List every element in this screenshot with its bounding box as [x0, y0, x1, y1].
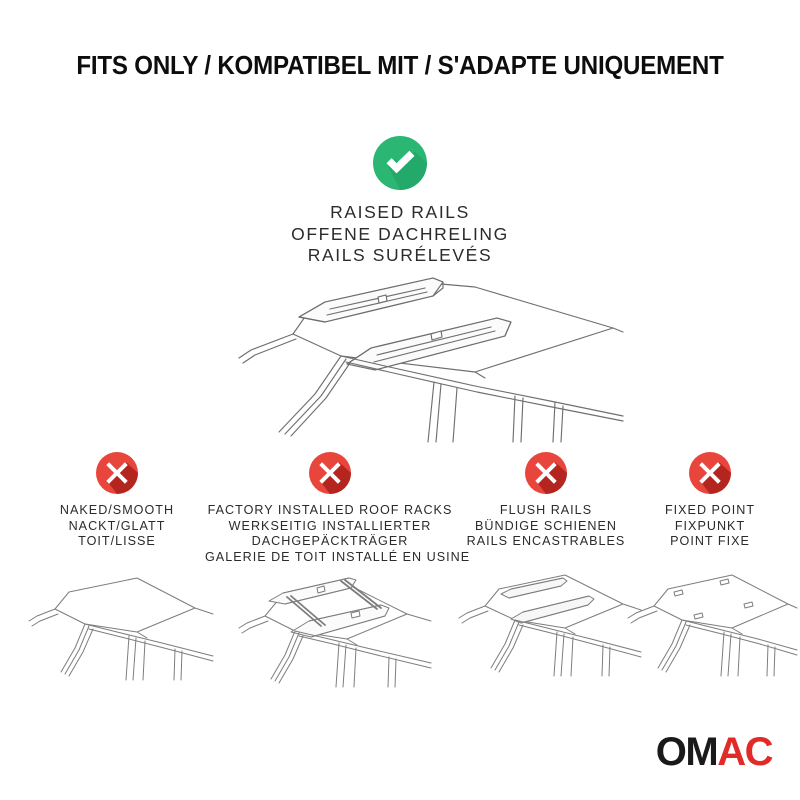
- approved-label-en: RAISED RAILS: [0, 202, 800, 224]
- rejected-label-en: NAKED/SMOOTH: [8, 503, 226, 519]
- car-roof-fixed-point-illustration: [620, 562, 800, 682]
- rejected-item-flush-rails: FLUSH RAILS BÜNDIGE SCHIENEN RAILS ENCAS…: [446, 452, 646, 682]
- rejected-label-de: BÜNDIGE SCHIENEN: [446, 519, 646, 535]
- x-circle-icon: [309, 452, 351, 494]
- rejected-label-fr: TOIT/LISSE: [8, 534, 226, 550]
- x-circle-icon: [689, 452, 731, 494]
- rejected-item-naked-smooth: NAKED/SMOOTH NACKT/GLATT TOIT/LISSE: [8, 452, 226, 689]
- rejected-label-en: FLUSH RAILS: [446, 503, 646, 519]
- approved-section: RAISED RAILS OFFENE DACHRELING RAILS SUR…: [0, 136, 800, 267]
- rejected-labels: NAKED/SMOOTH NACKT/GLATT TOIT/LISSE: [8, 503, 226, 550]
- rejected-label-de: FIXPUNKT: [620, 519, 800, 535]
- rejected-item-factory-rack: FACTORY INSTALLED ROOF RACKS WERKSEITIG …: [205, 452, 455, 694]
- rejected-label-en: FACTORY INSTALLED ROOF RACKS: [205, 503, 455, 519]
- rejected-label-de-1: WERKSEITIG INSTALLIERTER: [205, 519, 455, 535]
- logo-text-dark: OM: [656, 730, 717, 774]
- rejected-labels: FACTORY INSTALLED ROOF RACKS WERKSEITIG …: [205, 503, 455, 565]
- rejected-item-fixed-point: FIXED POINT FIXPUNKT POINT FIXE: [620, 452, 800, 682]
- approved-label-fr: RAILS SURÉLEVÉS: [0, 245, 800, 267]
- rejected-label-de: NACKT/GLATT: [8, 519, 226, 535]
- car-roof-raised-rails-illustration: [175, 276, 625, 446]
- logo-text-red: AC: [717, 730, 772, 774]
- page-title: FITS ONLY / KOMPATIBEL MIT / S'ADAPTE UN…: [22, 52, 778, 81]
- rejected-label-de-2: DACHGEPÄCKTRÄGER: [205, 534, 455, 550]
- rejected-label-fr: GALERIE DE TOIT INSTALLÉ EN USINE: [205, 550, 455, 566]
- approved-labels: RAISED RAILS OFFENE DACHRELING RAILS SUR…: [0, 202, 800, 267]
- x-circle-icon: [525, 452, 567, 494]
- omac-logo: OMAC: [656, 732, 772, 772]
- rejected-label-fr: RAILS ENCASTRABLES: [446, 534, 646, 550]
- car-roof-naked-smooth-illustration: [8, 564, 226, 689]
- rejected-label-fr: POINT FIXE: [620, 534, 800, 550]
- approved-label-de: OFFENE DACHRELING: [0, 224, 800, 246]
- rejected-labels: FLUSH RAILS BÜNDIGE SCHIENEN RAILS ENCAS…: [446, 503, 646, 550]
- rejected-label-en: FIXED POINT: [620, 503, 800, 519]
- rejected-section: NAKED/SMOOTH NACKT/GLATT TOIT/LISSE: [0, 452, 800, 692]
- car-roof-factory-rack-illustration: [205, 569, 455, 694]
- x-circle-icon: [96, 452, 138, 494]
- check-circle-icon: [373, 136, 427, 190]
- rejected-labels: FIXED POINT FIXPUNKT POINT FIXE: [620, 503, 800, 550]
- car-roof-flush-rails-illustration: [446, 562, 646, 682]
